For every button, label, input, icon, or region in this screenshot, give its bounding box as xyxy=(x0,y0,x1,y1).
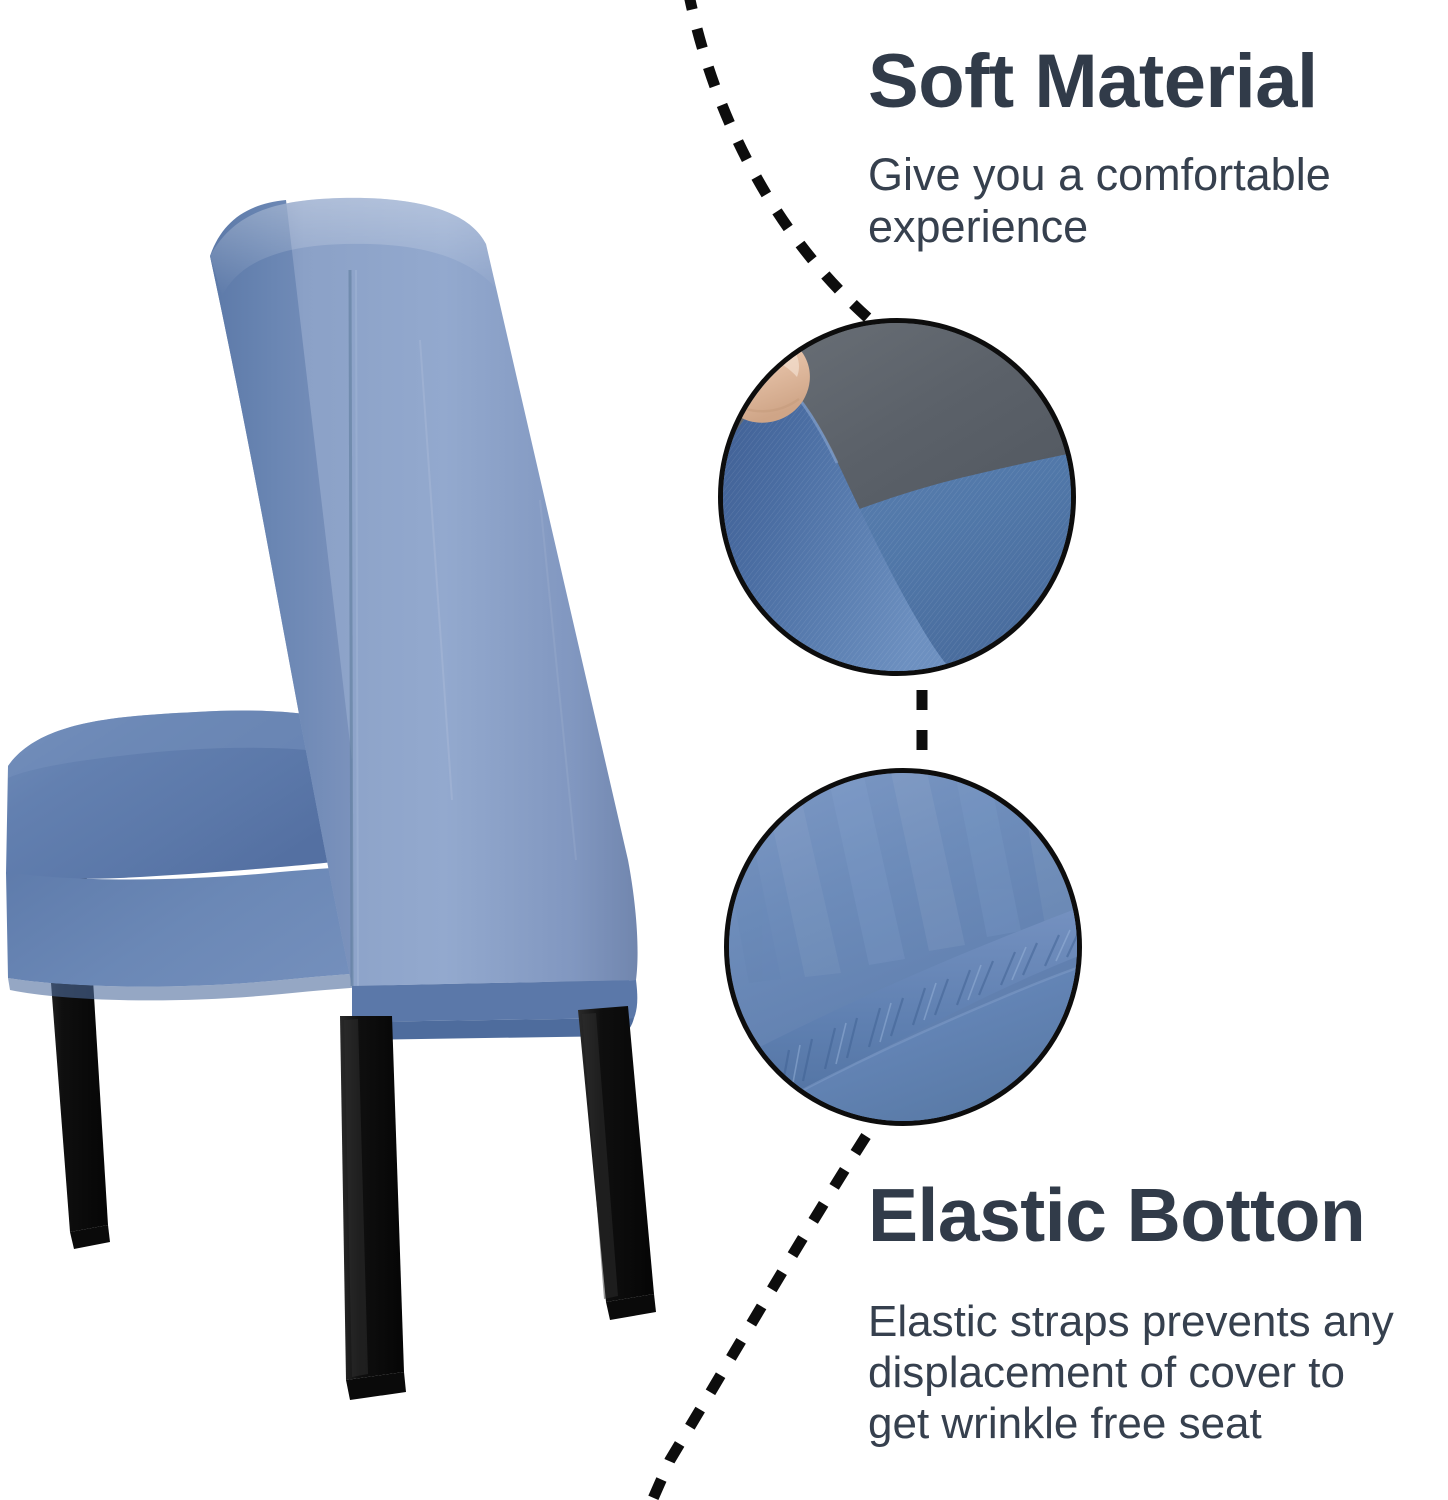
chair-product-photo xyxy=(0,160,700,1420)
inset-elastic-bottom-photo xyxy=(724,768,1082,1126)
feature-block-elastic-bottom: Elastic Botton Elastic straps prevents a… xyxy=(868,1176,1428,1450)
chair-leg-front-left xyxy=(340,1016,406,1400)
chair-leg-front-right xyxy=(578,1006,656,1320)
description-line: Give you a comfortable xyxy=(868,149,1424,202)
description-line: get wrinkle free seat xyxy=(868,1398,1428,1449)
feature-block-soft-material: Soft Material Give you a comfortable exp… xyxy=(868,42,1424,254)
description-line: Elastic straps prevents any xyxy=(868,1296,1428,1347)
description-line: experience xyxy=(868,201,1424,254)
inset-soft-material-photo xyxy=(718,318,1076,676)
chair-backrest-cover xyxy=(210,198,638,986)
chair-seat-cover xyxy=(6,711,352,879)
description-line: displacement of cover to xyxy=(868,1347,1428,1398)
feature-heading-soft-material: Soft Material xyxy=(868,42,1424,123)
feature-heading-elastic-bottom: Elastic Botton xyxy=(868,1176,1428,1256)
feature-description-soft-material: Give you a comfortable experience xyxy=(868,123,1424,254)
feature-description-elastic-bottom: Elastic straps prevents any displacement… xyxy=(868,1256,1428,1450)
infographic-canvas: Soft Material Give you a comfortable exp… xyxy=(0,0,1448,1500)
